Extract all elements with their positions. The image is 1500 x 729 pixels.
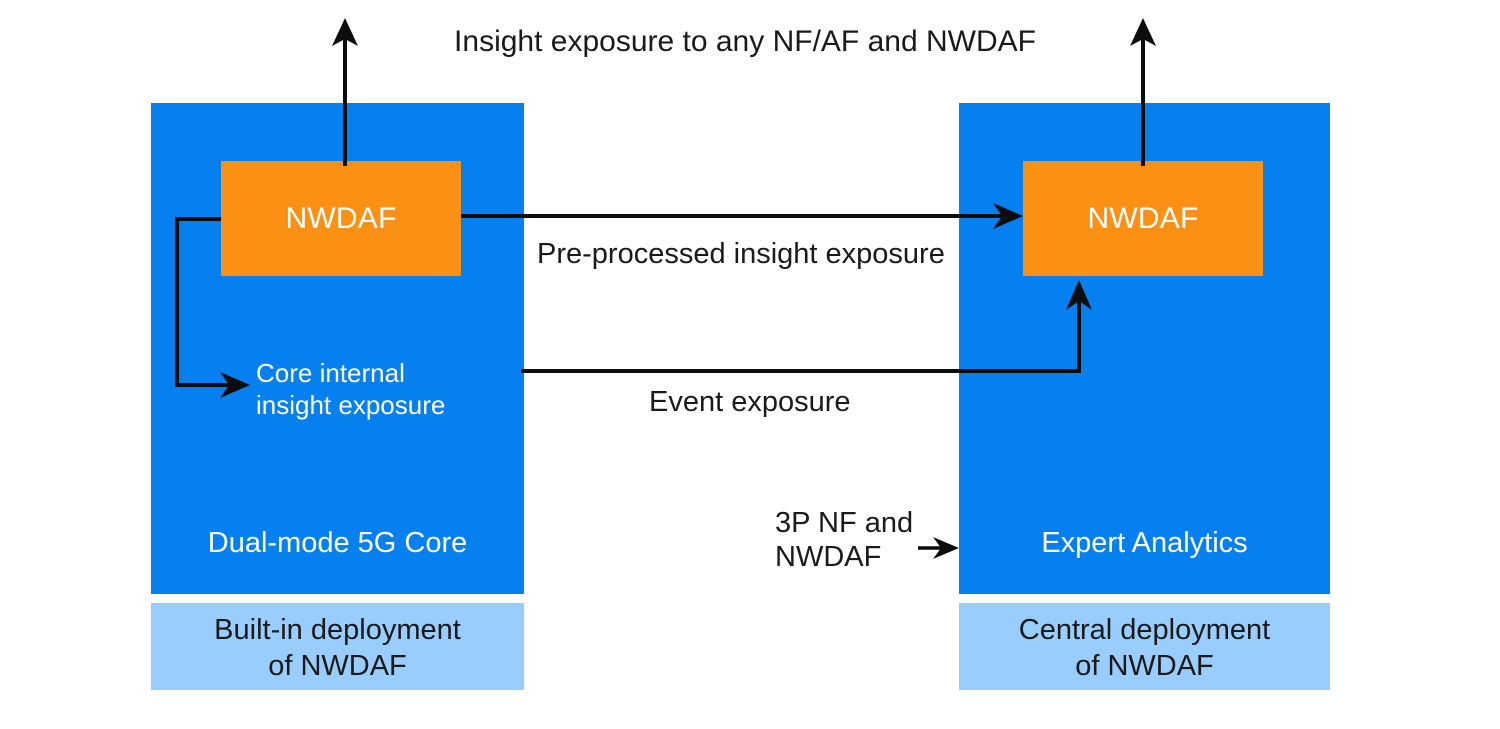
third-party-nf-arrow	[918, 537, 959, 559]
right-footer-label-line2: of NWDAF	[959, 649, 1330, 684]
pre-processed-insight-exposure-arrow	[461, 203, 1023, 229]
core-internal-insight-exposure-label-line2: insight exposure	[256, 390, 445, 422]
right-footer-label-line1: Central deployment	[959, 613, 1330, 648]
third-party-nf-label-line1: 3P NF and	[775, 506, 913, 541]
diagram-canvas: NWDAF Core internal insight exposure Dua…	[0, 0, 1500, 729]
third-party-nf-label-line2: NWDAF	[775, 540, 881, 575]
diagram-title-insight-exposure: Insight exposure to any NF/AF and NWDAF	[360, 24, 1130, 61]
left-nwdaf-box-label: NWDAF	[221, 161, 461, 276]
core-internal-insight-exposure-label-line1: Core internal	[256, 358, 405, 390]
pre-processed-insight-exposure-label: Pre-processed insight exposure	[537, 237, 945, 272]
left-panel-title-label: Dual-mode 5G Core	[151, 526, 524, 561]
left-footer-label-line2: of NWDAF	[151, 649, 524, 684]
left-nwdaf-box: NWDAF	[221, 161, 461, 276]
right-nwdaf-box: NWDAF	[1023, 161, 1263, 276]
left-footer-label-line1: Built-in deployment	[151, 613, 524, 648]
right-nwdaf-box-label: NWDAF	[1023, 161, 1263, 276]
right-panel-title-label: Expert Analytics	[959, 526, 1330, 561]
event-exposure-label: Event exposure	[649, 385, 851, 420]
